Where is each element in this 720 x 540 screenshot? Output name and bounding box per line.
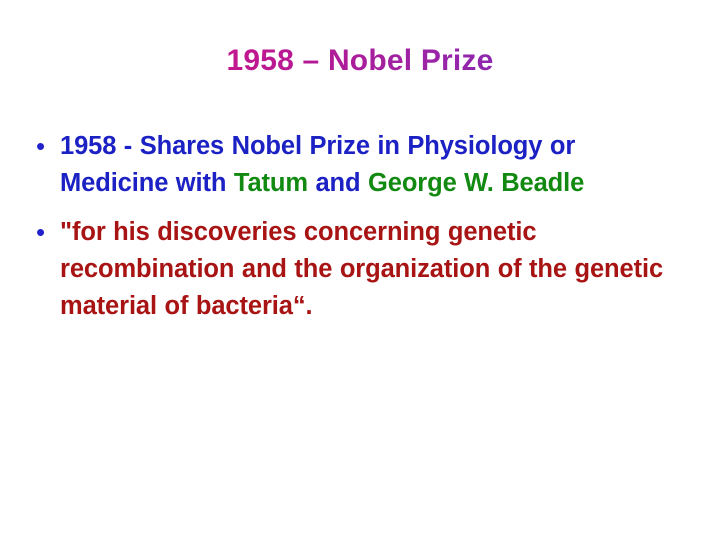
empty-content-area — [0, 380, 720, 540]
list-item[interactable]: • "for his discoveries concerning geneti… — [30, 214, 690, 325]
bullet-marker-icon: • — [30, 214, 60, 251]
bullet-marker-icon: • — [30, 128, 60, 165]
list-item-text: "for his discoveries concerning genetic … — [60, 214, 690, 325]
run-text-2: Tatum — [234, 169, 308, 197]
list-item[interactable]: • 1958 - Shares Nobel Prize in Physiolog… — [30, 128, 690, 202]
body-content: • 1958 - Shares Nobel Prize in Physiolog… — [30, 128, 690, 337]
list-item-text: 1958 - Shares Nobel Prize in Physiology … — [60, 128, 690, 202]
run-text-3: and — [308, 169, 368, 197]
title-block: 1958 – Nobel Prize — [0, 44, 720, 78]
page-title: 1958 – Nobel Prize — [226, 44, 493, 78]
run-text-4: George W. Beadle — [368, 169, 584, 197]
run-text-1: "for his discoveries concerning genetic … — [60, 218, 663, 320]
slide: 1958 – Nobel Prize • 1958 - Shares Nobel… — [0, 0, 720, 540]
